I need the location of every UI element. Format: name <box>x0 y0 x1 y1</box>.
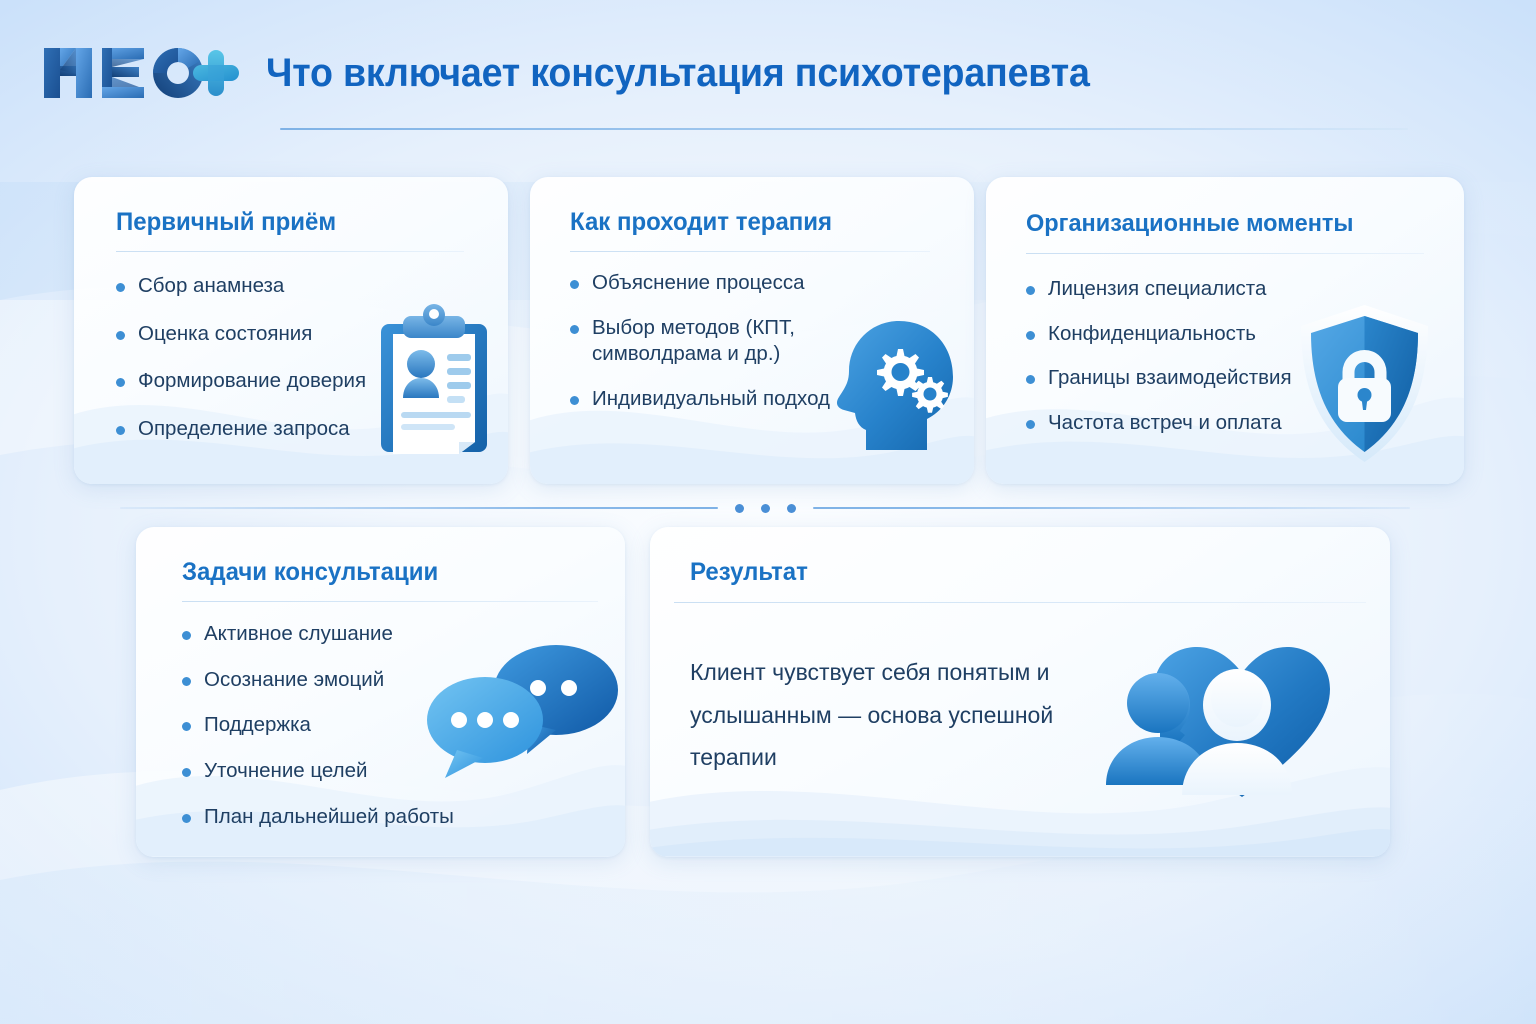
bullet-dot-icon <box>182 677 191 686</box>
bullet-dot-icon <box>116 283 125 292</box>
section-divider <box>120 500 1410 516</box>
list-item: Сбор анамнеза <box>112 273 442 300</box>
head-gears-icon <box>835 315 963 450</box>
infographic-canvas: Что включает консультация психотерапевта… <box>0 0 1536 1024</box>
card-title: Первичный приём <box>116 208 336 237</box>
bullet-dot-icon <box>116 378 125 387</box>
divider-dot-icon <box>735 504 744 513</box>
card-divider <box>116 251 464 252</box>
list-item: Индивидуальный подход <box>566 386 861 413</box>
list-item-label: Оценка состояния <box>138 322 312 345</box>
bullet-dot-icon <box>570 325 579 334</box>
card-primary-appointment[interactable]: Первичный приём Сбор анамнеза Оценка сос… <box>74 177 508 484</box>
card-title: Результат <box>690 558 808 587</box>
list-item-label: Определение запроса <box>138 417 350 440</box>
list-item-label: Частота встреч и оплата <box>1048 411 1282 434</box>
list-item: Выбор методов (КПТ, символдрама и др.) <box>566 315 861 368</box>
list-item-label: Поддержка <box>204 713 311 736</box>
divider-dot-icon <box>761 504 770 513</box>
card-title: Задачи консультации <box>182 558 438 587</box>
list-item-label: Уточнение целей <box>204 759 367 782</box>
card-result[interactable]: Результат Клиент чувствует себя понятым … <box>650 527 1390 857</box>
page-title: Что включает консультация психотерапевта <box>266 51 1090 96</box>
bullet-dot-icon <box>1026 375 1035 384</box>
bullet-dot-icon <box>570 396 579 405</box>
page-header: Что включает консультация психотерапевта <box>40 36 1420 136</box>
list-item-label: Выбор методов (КПТ, символдрама и др.) <box>592 316 795 366</box>
bullet-dot-icon <box>116 331 125 340</box>
divider-dot-icon <box>787 504 796 513</box>
divider-line-right <box>813 507 1411 509</box>
shield-lock-icon <box>1296 302 1433 465</box>
divider-line-left <box>120 507 718 509</box>
list-item-label: План дальнейшей работы <box>204 805 454 828</box>
speech-bubbles-icon <box>423 632 623 789</box>
list-item-label: Границы взаимодействия <box>1048 366 1292 389</box>
list-item-label: Лицензия специалиста <box>1048 277 1266 300</box>
bullet-list: Объяснение процесса Выбор методов (КПТ, … <box>566 270 861 431</box>
list-item-label: Сбор анамнеза <box>138 274 284 297</box>
list-item: Лицензия специалиста <box>1022 276 1352 303</box>
card-title: Как проходит терапия <box>570 208 832 237</box>
result-body-text: Клиент чувствует себя понятым и услышанн… <box>690 651 1110 779</box>
bullet-dot-icon <box>182 768 191 777</box>
bullet-dot-icon <box>570 280 579 289</box>
list-item-label: Индивидуальный подход <box>592 387 830 410</box>
list-item-label: Осознание эмоций <box>204 668 384 691</box>
card-title: Организационные моменты <box>1026 210 1354 238</box>
card-divider <box>182 601 598 602</box>
card-divider <box>674 602 1366 603</box>
divider-dots <box>718 504 813 513</box>
list-item: План дальнейшей работы <box>178 804 538 831</box>
neo-plus-logo <box>40 44 248 102</box>
card-therapy-process[interactable]: Как проходит терапия Объяснение процесса… <box>530 177 974 484</box>
bullet-dot-icon <box>182 631 191 640</box>
bullet-dot-icon <box>116 426 125 435</box>
clipboard-person-icon <box>373 302 495 458</box>
list-item-label: Активное слушание <box>204 622 393 645</box>
header-rule <box>280 128 1408 130</box>
card-divider <box>570 251 930 252</box>
bullet-dot-icon <box>1026 331 1035 340</box>
card-consultation-tasks[interactable]: Задачи консультации Активное слушание Ос… <box>136 527 625 857</box>
list-item: Объяснение процесса <box>566 270 861 297</box>
bullet-dot-icon <box>1026 286 1035 295</box>
card-organizational[interactable]: Организационные моменты Лицензия специал… <box>986 177 1464 484</box>
bullet-dot-icon <box>182 814 191 823</box>
list-item-label: Объяснение процесса <box>592 271 804 294</box>
couple-heart-icon <box>1082 617 1352 817</box>
bullet-dot-icon <box>1026 420 1035 429</box>
card-divider <box>1026 253 1424 254</box>
bullet-dot-icon <box>182 722 191 731</box>
list-item-label: Конфиденциальность <box>1048 322 1256 345</box>
list-item-label: Формирование доверия <box>138 369 366 392</box>
